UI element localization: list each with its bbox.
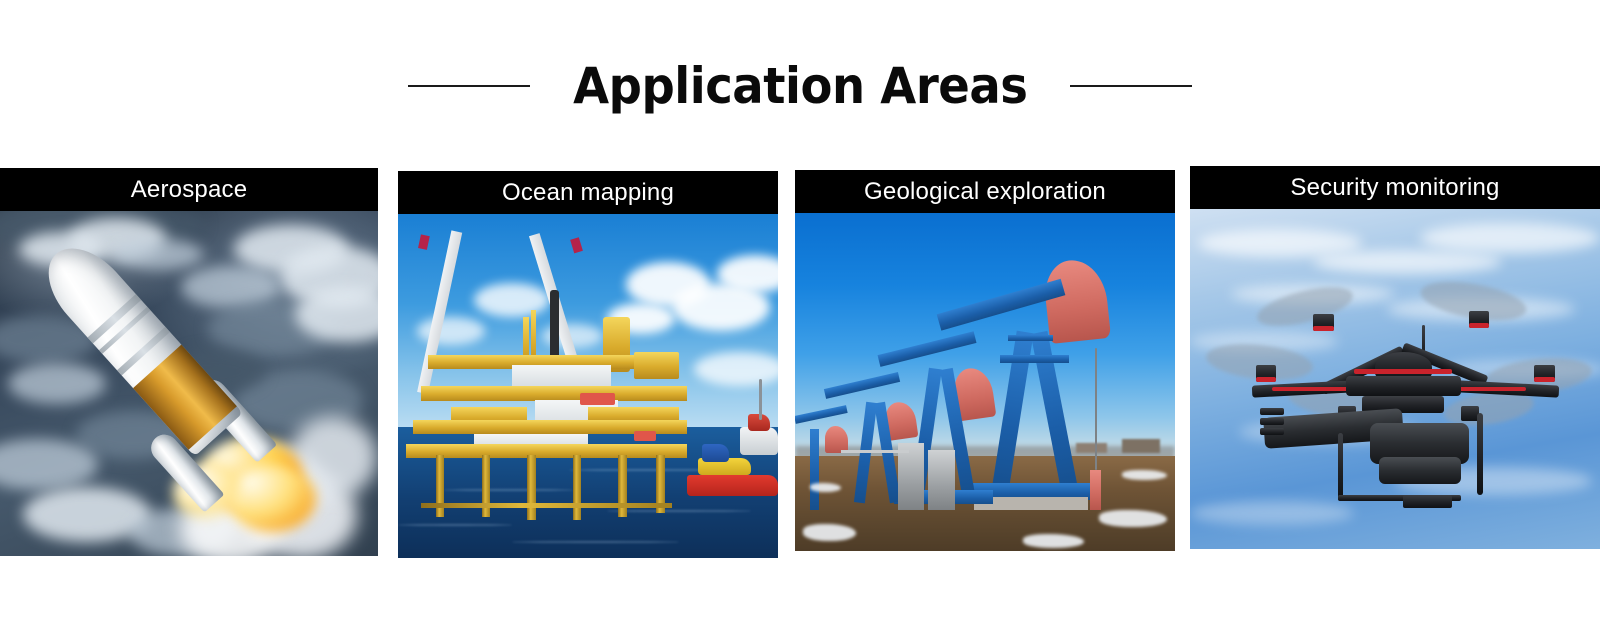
card-geological-exploration[interactable]: Geological exploration (795, 170, 1175, 551)
card-label-geological-exploration: Geological exploration (795, 170, 1175, 213)
card-label-ocean-mapping: Ocean mapping (398, 171, 778, 214)
motor-ring (1469, 323, 1490, 328)
motor-ring (1534, 377, 1555, 382)
card-label-security-monitoring: Security monitoring (1190, 166, 1600, 209)
motor-ring (1256, 377, 1277, 382)
cloud (694, 352, 778, 386)
snow-patch (810, 483, 840, 491)
landing-leg (1338, 433, 1344, 501)
arm-stripe (1272, 387, 1354, 390)
rocket-fuel-tank (133, 345, 236, 450)
payload-barrel (1260, 428, 1285, 435)
card-image-geological-exploration (795, 213, 1175, 551)
geological-scene (795, 213, 1175, 551)
propeller (1253, 279, 1356, 332)
card-image-aerospace (0, 211, 378, 556)
platform-deck (406, 444, 687, 458)
payload-barrel (1260, 418, 1285, 425)
platform-module (634, 352, 680, 380)
snow-patch (1099, 510, 1167, 527)
snow-patch (803, 524, 856, 541)
landing-skid (1403, 495, 1452, 509)
drone-hub (1346, 376, 1461, 396)
rocket-illustration (30, 214, 370, 552)
platform-leg (573, 455, 581, 520)
drone-scene (1190, 209, 1600, 549)
vessel-mast (759, 379, 762, 420)
card-aerospace[interactable]: Aerospace (0, 168, 378, 556)
fence-rail (841, 450, 909, 453)
drone-illustration (1190, 209, 1600, 549)
polished-rod (1095, 348, 1097, 470)
wave (607, 510, 751, 512)
application-areas-grid: Aerospace (0, 0, 1600, 619)
wellhead (1090, 470, 1101, 511)
platform-brace (421, 503, 672, 509)
distant-building (1122, 439, 1160, 453)
supply-vessel (687, 475, 778, 496)
payload-barrel (1260, 408, 1285, 415)
rocket-body (32, 233, 243, 457)
wave (512, 541, 679, 543)
card-image-ocean-mapping (398, 214, 778, 558)
snow-patch (1122, 470, 1168, 480)
platform-accent (580, 393, 614, 405)
platform-accent (634, 431, 657, 441)
card-label-aerospace: Aerospace (0, 168, 378, 211)
card-ocean-mapping[interactable]: Ocean mapping (398, 171, 778, 558)
vessel-superstructure (740, 427, 778, 455)
card-image-security-monitoring (1190, 209, 1600, 549)
vessel-container (702, 444, 729, 461)
cloud (474, 283, 550, 317)
hub-stripe (1354, 369, 1452, 374)
motor-ring (1313, 326, 1334, 331)
rocket-flame (228, 465, 316, 533)
snow-patch (1023, 534, 1084, 548)
pumpjack-sampson-post (810, 429, 819, 510)
wave (398, 524, 512, 526)
platform-leg (527, 455, 535, 520)
payload-canister (1379, 457, 1461, 484)
distant-building (1076, 443, 1106, 453)
pumpjack-rail (1000, 355, 1068, 363)
card-security-monitoring[interactable]: Security monitoring (1190, 166, 1600, 549)
ocean-scene (398, 214, 778, 558)
pumpjack-rail (1008, 335, 1054, 342)
landing-leg (1477, 413, 1483, 495)
control-cabinet (928, 450, 955, 511)
geological-sky (795, 213, 1175, 456)
